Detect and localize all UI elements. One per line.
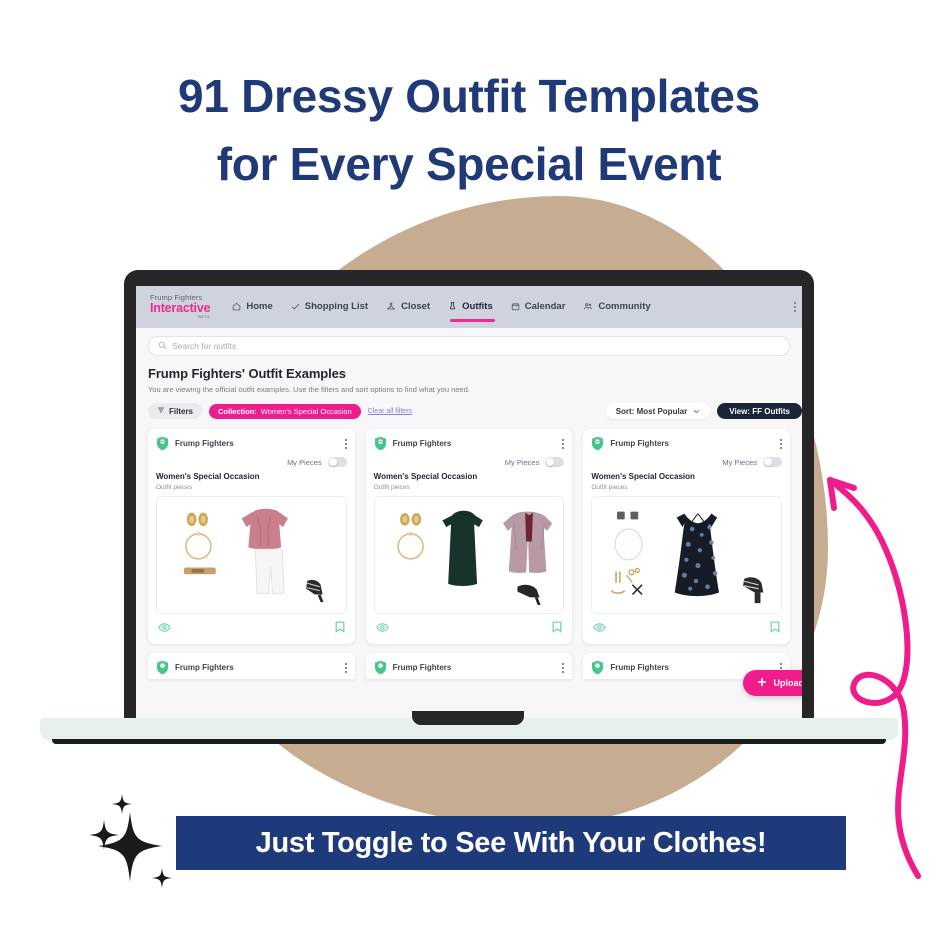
card-actions: [156, 614, 347, 638]
card-brand-label: Frump Fighters: [393, 663, 452, 672]
poster-canvas: 91 Dressy Outfit Templates for Every Spe…: [0, 0, 938, 938]
status-banner-text: Just Toggle to See With Your Clothes!: [256, 827, 767, 860]
kebab-dot: [562, 663, 564, 665]
calendar-icon: [511, 302, 520, 311]
kebab-dot: [780, 667, 782, 669]
filters-button[interactable]: Filters: [148, 403, 202, 419]
plus-icon: [757, 677, 767, 689]
kebab-dot: [794, 310, 796, 312]
card-header: Frump Fighters: [591, 436, 782, 451]
eye-icon[interactable]: [158, 620, 171, 638]
dress-icon: [448, 301, 457, 311]
shield-badge-icon: [156, 660, 169, 675]
card-subtitle: Outfit pieces: [591, 484, 782, 491]
search-section: Search for outfits: [136, 328, 802, 360]
kebab-dot: [345, 667, 347, 669]
my-pieces-toggle[interactable]: [328, 457, 347, 467]
app-logo[interactable]: Frump Fighters Interactive BETA: [150, 294, 210, 319]
my-pieces-toggle[interactable]: [763, 457, 782, 467]
bookmark-icon[interactable]: [770, 620, 780, 638]
nav-item-calendar-label: Calendar: [525, 301, 566, 312]
bookmark-icon[interactable]: [335, 620, 345, 638]
nav-item-shopping-list-label: Shopping List: [305, 301, 368, 312]
home-icon: [232, 302, 241, 311]
kebab-menu-icon[interactable]: [562, 439, 564, 449]
view-toggle-label: View: FF Outfits: [729, 407, 790, 416]
kebab-dot: [562, 443, 564, 445]
outfit-preview[interactable]: [591, 496, 782, 614]
card-header: Frump Fighters: [374, 436, 565, 451]
check-icon: [291, 302, 300, 311]
kebab-dot: [562, 439, 564, 441]
my-pieces-label: My Pieces: [287, 458, 322, 467]
outfit-art-1: [157, 497, 346, 613]
nav-item-community-label: Community: [598, 301, 650, 312]
examples-subtitle: You are viewing the official outfit exam…: [148, 385, 790, 394]
kebab-dot: [780, 447, 782, 449]
card-actions: [374, 614, 565, 638]
my-pieces-label: My Pieces: [722, 458, 757, 467]
people-icon: [583, 302, 593, 311]
kebab-dot: [345, 443, 347, 445]
outfit-card[interactable]: Frump Fighters: [366, 653, 573, 679]
shield-badge-icon: [156, 436, 169, 451]
filter-icon: [157, 406, 165, 416]
status-banner: Just Toggle to See With Your Clothes!: [176, 816, 846, 870]
kebab-menu-icon[interactable]: [345, 663, 347, 673]
card-brand-label: Frump Fighters: [610, 663, 669, 672]
my-pieces-toggle-row: My Pieces: [156, 457, 347, 467]
outfit-art-2: [375, 497, 564, 613]
kebab-menu-icon[interactable]: [345, 439, 347, 449]
chevron-down-icon: [693, 407, 700, 416]
my-pieces-label: My Pieces: [505, 458, 540, 467]
laptop-notch: [412, 711, 524, 725]
headline-line-1: 91 Dressy Outfit Templates: [0, 62, 938, 130]
card-header: Frump Fighters: [156, 436, 347, 451]
filter-toolbar: Filters Collection: Women's Special Occa…: [136, 394, 802, 419]
kebab-dot: [345, 439, 347, 441]
card-brand-label: Frump Fighters: [175, 439, 234, 448]
my-pieces-toggle[interactable]: [545, 457, 564, 467]
kebab-dot: [780, 663, 782, 665]
page-title: 91 Dressy Outfit Templates for Every Spe…: [0, 62, 938, 198]
sort-dropdown[interactable]: Sort: Most Popular: [606, 403, 711, 419]
shield-badge-icon: [591, 660, 604, 675]
card-subtitle: Outfit pieces: [156, 484, 347, 491]
laptop-lid: Frump Fighters Interactive BETA Home: [124, 270, 814, 720]
outfit-card[interactable]: Frump Fighters: [148, 653, 355, 679]
outfit-art-3: [592, 497, 781, 613]
card-brand-label: Frump Fighters: [393, 439, 452, 448]
kebab-dot: [794, 302, 796, 304]
nav-item-calendar[interactable]: Calendar: [511, 301, 566, 314]
sort-and-view-controls: Sort: Most Popular View: FF Outfits: [606, 403, 802, 419]
card-actions: [591, 614, 782, 638]
kebab-dot: [562, 447, 564, 449]
kebab-dot: [345, 663, 347, 665]
outfit-card[interactable]: Frump Fighters My Pieces Women's Special…: [583, 429, 790, 644]
kebab-menu-icon[interactable]: [794, 302, 796, 312]
laptop-screen: Frump Fighters Interactive BETA Home: [136, 286, 802, 720]
nav-item-closet-label: Closet: [401, 301, 430, 312]
outfit-card-grid-row-2: Frump Fighters Frump Fighters: [136, 653, 802, 679]
card-title: Women's Special Occasion: [156, 472, 347, 481]
outfit-card[interactable]: Frump Fighters My Pieces Women's Special…: [148, 429, 355, 644]
logo-beta-badge: BETA: [150, 315, 210, 319]
search-placeholder: Search for outfits: [172, 341, 236, 351]
view-toggle-button[interactable]: View: FF Outfits: [717, 403, 802, 419]
nav-items: Home Shopping List Closet: [232, 301, 650, 314]
outfit-card[interactable]: Frump Fighters My Pieces Women's Special…: [366, 429, 573, 644]
laptop-base-lip: [52, 739, 886, 744]
kebab-dot: [562, 671, 564, 673]
card-brand-label: Frump Fighters: [610, 439, 669, 448]
my-pieces-toggle-row: My Pieces: [374, 457, 565, 467]
hanger-icon: [386, 302, 396, 311]
card-header: Frump Fighters: [374, 660, 565, 675]
eye-icon[interactable]: [376, 620, 389, 638]
shield-badge-icon: [374, 436, 387, 451]
nav-item-community[interactable]: Community: [583, 301, 650, 314]
kebab-dot: [345, 447, 347, 449]
kebab-dot: [794, 306, 796, 308]
app-navbar: Frump Fighters Interactive BETA Home: [136, 286, 802, 328]
outfit-preview[interactable]: [156, 496, 347, 614]
my-pieces-toggle-row: My Pieces: [591, 457, 782, 467]
kebab-menu-icon[interactable]: [780, 439, 782, 449]
filters-button-label: Filters: [169, 407, 193, 416]
search-icon: [158, 337, 167, 355]
kebab-dot: [780, 439, 782, 441]
shield-badge-icon: [374, 660, 387, 675]
nav-item-shopping-list[interactable]: Shopping List: [291, 301, 368, 314]
outfit-card-grid: Frump Fighters My Pieces Women's Special…: [136, 419, 802, 644]
kebab-dot: [562, 667, 564, 669]
nav-item-home[interactable]: Home: [232, 301, 272, 314]
page-header: Frump Fighters' Outfit Examples You are …: [136, 360, 802, 394]
sort-dropdown-label: Sort: Most Popular: [616, 407, 688, 416]
kebab-dot: [345, 671, 347, 673]
examples-title: Frump Fighters' Outfit Examples: [148, 366, 790, 381]
bookmark-icon[interactable]: [552, 620, 562, 638]
card-subtitle: Outfit pieces: [374, 484, 565, 491]
kebab-dot: [780, 443, 782, 445]
collection-chip-value: Women's Special Occasion: [261, 407, 352, 416]
headline-line-2: for Every Special Event: [0, 130, 938, 198]
card-header: Frump Fighters: [156, 660, 347, 675]
nav-item-outfits-label: Outfits: [462, 301, 493, 312]
kebab-menu-icon[interactable]: [562, 663, 564, 673]
nav-item-outfits[interactable]: Outfits: [448, 301, 493, 314]
annotation-arrow: [792, 450, 938, 880]
card-title: Women's Special Occasion: [591, 472, 782, 481]
nav-item-home-label: Home: [246, 301, 272, 312]
card-title: Women's Special Occasion: [374, 472, 565, 481]
clear-all-filters-link[interactable]: Clear all filters: [368, 408, 412, 415]
shield-badge-icon: [591, 436, 604, 451]
search-input[interactable]: Search for outfits: [148, 336, 790, 356]
eye-icon[interactable]: [593, 620, 606, 638]
collection-filter-chip[interactable]: Collection: Women's Special Occasion: [209, 404, 361, 419]
card-brand-label: Frump Fighters: [175, 663, 234, 672]
collection-chip-prefix: Collection:: [218, 407, 257, 416]
nav-item-closet[interactable]: Closet: [386, 301, 430, 314]
outfit-preview[interactable]: [374, 496, 565, 614]
